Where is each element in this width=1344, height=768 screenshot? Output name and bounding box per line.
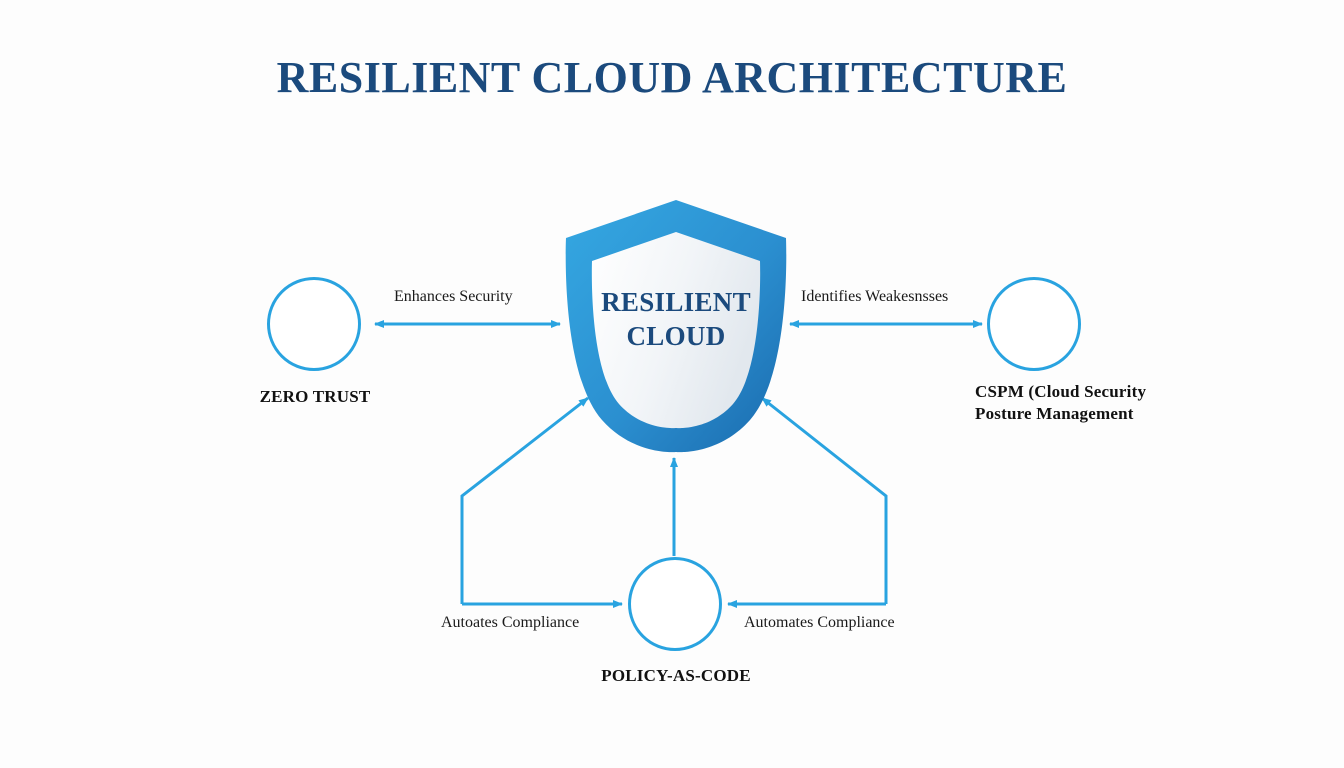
- node-cspm-caption: CSPM (Cloud Security Posture Management: [975, 381, 1150, 425]
- edge-right-elbow: [762, 398, 886, 604]
- node-policy-as-code[interactable]: [628, 557, 722, 651]
- edge-left-elbow: [462, 398, 588, 604]
- center-node-label-line1: RESILIENT: [560, 285, 792, 319]
- diagram-canvas: RESILIENT CLOUD ARCHITECTURE: [0, 0, 1344, 768]
- node-policy-as-code-caption: POLICY-AS-CODE: [560, 665, 792, 687]
- node-zero-trust-caption: ZERO TRUST: [200, 386, 430, 408]
- edge-label-enhances-security: Enhances Security: [394, 288, 513, 306]
- node-cspm[interactable]: [987, 277, 1081, 371]
- edge-label-identifies-weaknesses: Identifies Weakesnsses: [801, 288, 948, 306]
- edge-label-automates-compliance-left: Autoates Compliance: [441, 614, 579, 632]
- edge-label-automates-compliance-right: Automates Compliance: [744, 614, 895, 632]
- center-node-label: RESILIENT CLOUD: [560, 285, 792, 353]
- node-zero-trust[interactable]: [267, 277, 361, 371]
- center-node-label-line2: CLOUD: [560, 319, 792, 353]
